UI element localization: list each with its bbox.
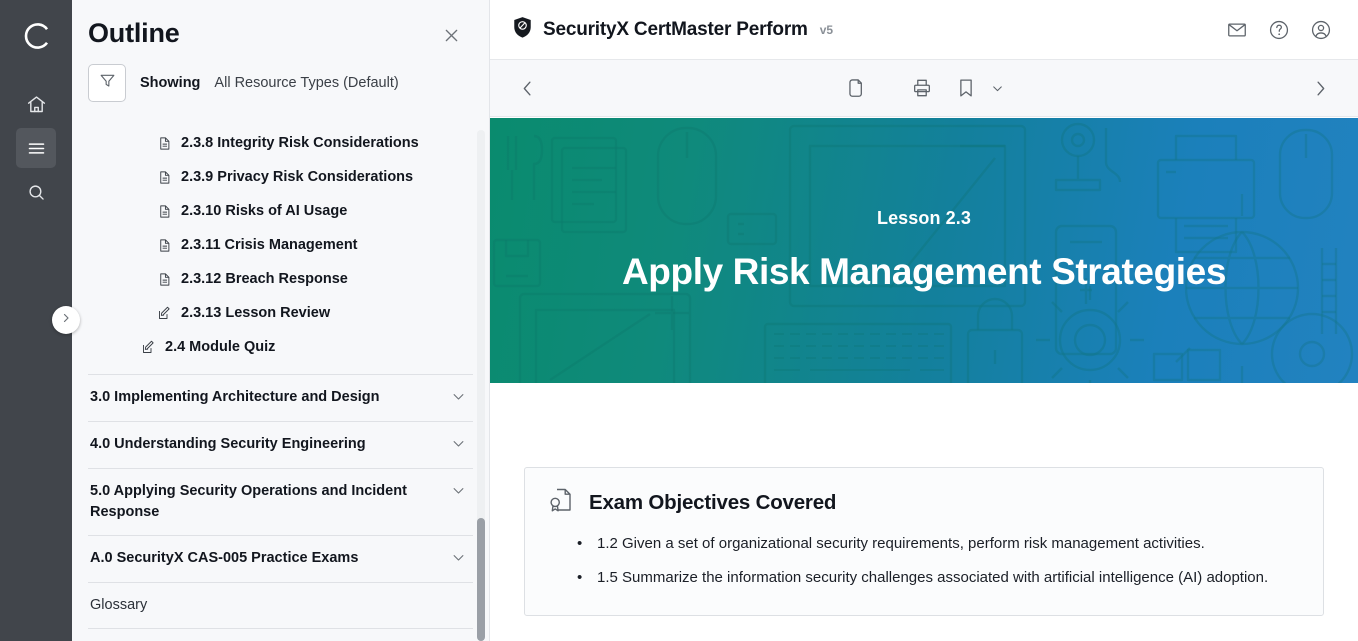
exam-objectives-callout: Exam Objectives Covered 1.2 Given a set … [524, 467, 1324, 616]
page-toolbar [490, 60, 1358, 117]
exam-objective-item: 1.5 Summarize the information security c… [577, 561, 1301, 595]
hero-lesson-title: Apply Risk Management Strategies [622, 251, 1226, 293]
document-icon [156, 204, 172, 219]
outline-section-row[interactable]: A.0 SecurityX CAS-005 Practice Exams [88, 535, 473, 582]
bookmark-icon[interactable] [955, 77, 977, 99]
outline-section-row[interactable]: 5.0 Applying Security Operations and Inc… [88, 468, 473, 535]
topbar-actions [1226, 19, 1332, 41]
outline-topic-item[interactable]: 2.3.13 Lesson Review [88, 296, 473, 330]
bookmark-group [955, 77, 1004, 99]
exam-objective-item: 1.2 Given a set of organizational securi… [577, 527, 1301, 561]
outline-close-button[interactable] [437, 24, 465, 52]
outline-topic-item[interactable]: 2.3.9 Privacy Risk Considerations [88, 160, 473, 194]
filter-button[interactable] [88, 64, 126, 102]
callout-header: Exam Objectives Covered [547, 486, 1301, 519]
print-icon[interactable] [911, 77, 933, 99]
outline-topic-label: 2.3.12 Breach Response [181, 271, 348, 287]
copy-pages-icon[interactable] [845, 77, 867, 99]
outline-section-list: 3.0 Implementing Architecture and Design… [72, 374, 489, 629]
brand: SecurityX CertMaster Perform v5 [512, 16, 833, 44]
chevron-down-icon[interactable] [451, 483, 469, 503]
brand-version: v5 [820, 23, 833, 37]
outline-section-label: 3.0 Implementing Architecture and Design [90, 387, 380, 408]
rail-nav [16, 84, 56, 212]
home-icon [26, 94, 47, 115]
outline-topic-item[interactable]: 2.4 Module Quiz [88, 330, 473, 364]
document-icon [156, 136, 172, 151]
user-account-icon[interactable] [1310, 19, 1332, 41]
outline-section-row[interactable]: 4.0 Understanding Security Engineering [88, 421, 473, 468]
outline-scrollbar-track[interactable] [477, 130, 485, 641]
outline-section-label: 5.0 Applying Security Operations and Inc… [90, 481, 408, 523]
lesson-hero-banner: Lesson 2.3 Apply Risk Management Strateg… [490, 118, 1358, 383]
outline-topic-label: 2.4 Module Quiz [165, 339, 275, 355]
prev-page-button[interactable] [518, 79, 537, 98]
document-icon [156, 272, 172, 287]
outline-section-label: 4.0 Understanding Security Engineering [90, 434, 366, 455]
showing-value[interactable]: All Resource Types (Default) [214, 75, 398, 91]
help-circle-icon[interactable] [1268, 19, 1290, 41]
pencil-square-icon [156, 306, 172, 321]
outline-header: Outline [72, 0, 489, 52]
outline-topic-item[interactable]: 2.3.8 Integrity Risk Considerations [88, 126, 473, 160]
outline-topic-list: 2.3.8 Integrity Risk Considerations 2.3.… [72, 126, 489, 364]
outline-section-label: Glossary [90, 595, 147, 616]
mail-icon[interactable] [1226, 19, 1248, 41]
outline-title: Outline [88, 18, 180, 49]
left-rail [0, 0, 72, 641]
outline-section-row-glossary[interactable]: Glossary [88, 582, 473, 629]
exam-objectives-list: 1.2 Given a set of organizational securi… [547, 527, 1301, 595]
lesson-body: Exam Objectives Covered 1.2 Given a set … [490, 383, 1358, 641]
chevron-right-icon [60, 311, 72, 329]
outline-scrollbar-thumb[interactable] [477, 518, 485, 641]
shield-icon [512, 16, 533, 44]
outline-topic-item[interactable]: 2.3.12 Breach Response [88, 262, 473, 296]
toolbar-center-actions [490, 60, 1358, 116]
hero-lesson-number: Lesson 2.3 [877, 208, 971, 229]
outline-section-label: A.0 SecurityX CAS-005 Practice Exams [90, 548, 358, 569]
rail-item-home[interactable] [16, 84, 56, 124]
hamburger-menu-icon [26, 138, 47, 159]
outline-topic-label: 2.3.10 Risks of AI Usage [181, 203, 347, 219]
outline-topic-label: 2.3.8 Integrity Risk Considerations [181, 135, 419, 151]
outline-filter-row: Showing All Resource Types (Default) [72, 52, 489, 112]
search-icon [26, 182, 47, 203]
main-content: SecurityX CertMaster Perform v5 [490, 0, 1358, 641]
rail-item-search[interactable] [16, 172, 56, 212]
chevron-down-icon[interactable] [451, 550, 469, 570]
outline-panel: Outline Showing All Resource Types (Defa… [72, 0, 490, 641]
app-topbar: SecurityX CertMaster Perform v5 [490, 0, 1358, 60]
pencil-square-icon [140, 340, 156, 355]
rail-item-outline[interactable] [16, 128, 56, 168]
rail-collapse-toggle[interactable] [52, 306, 80, 334]
outline-section-row[interactable]: 3.0 Implementing Architecture and Design [88, 374, 473, 421]
filter-funnel-icon [98, 71, 117, 95]
chevron-down-icon[interactable] [991, 82, 1004, 95]
brand-name: SecurityX CertMaster Perform [543, 19, 808, 41]
lesson-content: Lesson 2.3 Apply Risk Management Strateg… [490, 118, 1358, 641]
callout-title: Exam Objectives Covered [589, 491, 836, 515]
document-icon [156, 170, 172, 185]
outline-topic-label: 2.3.11 Crisis Management [181, 237, 358, 253]
document-icon [156, 238, 172, 253]
outline-topic-label: 2.3.13 Lesson Review [181, 305, 330, 321]
app-root: Outline Showing All Resource Types (Defa… [0, 0, 1358, 641]
chevron-down-icon[interactable] [451, 389, 469, 409]
close-icon [442, 26, 461, 50]
chevron-down-icon[interactable] [451, 436, 469, 456]
comptia-c-logo-icon[interactable] [14, 14, 58, 58]
outline-topic-item[interactable]: 2.3.10 Risks of AI Usage [88, 194, 473, 228]
outline-topic-item[interactable]: 2.3.11 Crisis Management [88, 228, 473, 262]
certificate-document-icon [547, 486, 575, 519]
next-page-button[interactable] [1311, 79, 1330, 98]
outline-scroll-area: 2.3.8 Integrity Risk Considerations 2.3.… [72, 126, 489, 641]
showing-label: Showing [140, 75, 200, 91]
outline-topic-label: 2.3.9 Privacy Risk Considerations [181, 169, 413, 185]
